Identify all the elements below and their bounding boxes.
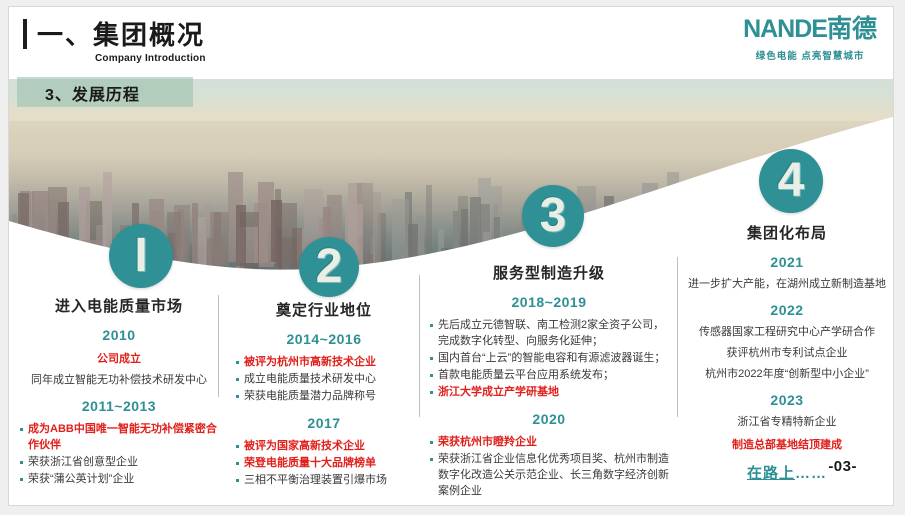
- timeline-year: 2010: [19, 327, 219, 343]
- timeline-note: 获评杭州市专利试点企业: [687, 344, 887, 360]
- timeline-marker-number: 4: [778, 157, 805, 205]
- timeline-marker-number: I: [134, 232, 147, 280]
- timeline-column-2: 奠定行业地位2014~2016被评为杭州市高新技术企业成立电能质量技术研发中心荣…: [235, 299, 413, 489]
- page-number: -03-: [828, 458, 857, 475]
- timeline-note: 制造总部基地结顶建成: [687, 436, 887, 452]
- list-item: 成为ABB中国唯一智能无功补偿紧密合作伙伴: [19, 421, 219, 453]
- list-item: 被评为国家高新技术企业: [235, 438, 413, 454]
- list-item: 荣获电能质量潜力品牌称号: [235, 388, 413, 404]
- timeline-year: 2021: [687, 254, 887, 270]
- column-divider-3: [677, 257, 678, 417]
- section-label: 3、发展历程: [45, 81, 140, 105]
- timeline-column-title: 集团化布局: [687, 222, 887, 243]
- logo-cn: 南德: [827, 15, 877, 43]
- list-item: 成立电能质量技术研发中心: [235, 371, 413, 387]
- list-item: 荣获浙江省创意型企业: [19, 454, 219, 470]
- list-item: 首款电能质量云平台应用系统发布；: [429, 367, 669, 383]
- timeline-item-list: 荣获杭州市瞪羚企业荣获浙江省企业信息化优秀项目奖、杭州市制造数字化改造公关示范企…: [429, 434, 669, 499]
- timeline-marker-1: I: [109, 224, 173, 288]
- timeline-item-list: 成为ABB中国唯一智能无功补偿紧密合作伙伴荣获浙江省创意型企业荣获“蒲公英计划”…: [19, 421, 219, 487]
- list-item: 荣获“蒲公英计划”企业: [19, 471, 219, 487]
- timeline-year: 2017: [235, 415, 413, 431]
- list-item: 三相不平衡治理装置引爆市场: [235, 472, 413, 488]
- timeline-column-1: 进入电能质量市场2010公司成立同年成立智能无功补偿技术研发中心2011~201…: [19, 295, 219, 488]
- timeline-column-4: 集团化布局2021进一步扩大产能，在湖州成立新制造基地2022传感器国家工程研究…: [687, 222, 887, 483]
- brand-logo: NANDE南德 绿色电能 点亮智慧城市: [743, 17, 877, 62]
- timeline-note: 传感器国家工程研究中心产学研合作: [687, 323, 887, 339]
- list-item: 国内首台“上云”的智能电容和有源滤波器诞生；: [429, 350, 669, 366]
- list-item: 荣获浙江省企业信息化优秀项目奖、杭州市制造数字化改造公关示范企业、长三角数字经济…: [429, 451, 669, 499]
- timeline-footer: 在路上……: [687, 462, 887, 483]
- list-item: 荣登电能质量十大品牌榜单: [235, 455, 413, 471]
- timeline-note: 公司成立: [19, 350, 219, 366]
- page-subtitle-en: Company Introduction: [95, 53, 206, 64]
- title-accent-bar: [23, 19, 27, 49]
- timeline-year: 2011~2013: [19, 398, 219, 414]
- timeline-item-list: 被评为国家高新技术企业荣登电能质量十大品牌榜单三相不平衡治理装置引爆市场: [235, 438, 413, 488]
- timeline-note: 浙江省专精特新企业: [687, 413, 887, 429]
- timeline-marker-4: 4: [759, 149, 823, 213]
- slide: 一、集团概况 Company Introduction 3、发展历程 NANDE…: [8, 6, 894, 506]
- timeline-column-title: 服务型制造升级: [429, 262, 669, 283]
- timeline-year: 2022: [687, 302, 887, 318]
- page-title: 一、集团概况: [37, 15, 205, 52]
- timeline-marker-3: 3: [522, 185, 584, 247]
- timeline-note: 同年成立智能无功补偿技术研发中心: [19, 371, 219, 387]
- timeline-item-list: 被评为杭州市高新技术企业成立电能质量技术研发中心荣获电能质量潜力品牌称号: [235, 354, 413, 404]
- timeline-column-title: 进入电能质量市场: [19, 295, 219, 316]
- timeline-marker-2: 2: [299, 237, 359, 297]
- timeline-column-3: 服务型制造升级2018~2019先后成立元德智联、南工检测2家全资子公司，完成数…: [429, 262, 669, 500]
- logo-tagline: 绿色电能 点亮智慧城市: [743, 48, 877, 62]
- timeline-note: 进一步扩大产能，在湖州成立新制造基地: [687, 275, 887, 291]
- timeline-column-title: 奠定行业地位: [235, 299, 413, 320]
- timeline-marker-number: 2: [316, 243, 343, 291]
- list-item: 浙江大学成立产学研基地: [429, 384, 669, 400]
- column-divider-2: [419, 275, 420, 417]
- timeline-item-list: 先后成立元德智联、南工检测2家全资子公司，完成数字化转型、向服务化延伸；国内首台…: [429, 317, 669, 400]
- timeline-note: 杭州市2022年度“创新型中小企业”: [687, 365, 887, 381]
- timeline-year: 2014~2016: [235, 331, 413, 347]
- logo-latin: NANDE: [743, 15, 827, 43]
- list-item: 被评为杭州市高新技术企业: [235, 354, 413, 370]
- list-item: 荣获杭州市瞪羚企业: [429, 434, 669, 450]
- timeline-year: 2020: [429, 411, 669, 427]
- timeline-year: 2018~2019: [429, 294, 669, 310]
- logo-wordmark: NANDE南德: [743, 17, 877, 42]
- timeline-year: 2023: [687, 392, 887, 408]
- list-item: 先后成立元德智联、南工检测2家全资子公司，完成数字化转型、向服务化延伸；: [429, 317, 669, 349]
- section-label-box: 3、发展历程: [17, 77, 193, 107]
- timeline-marker-number: 3: [540, 192, 567, 240]
